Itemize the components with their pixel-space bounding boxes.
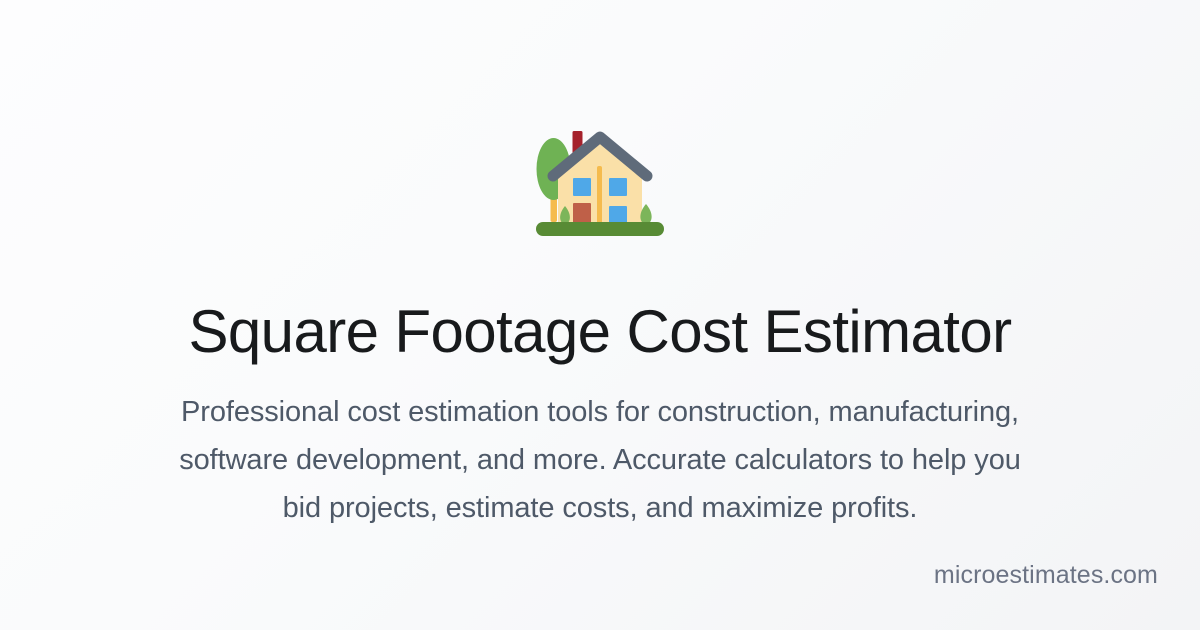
og-card: Square Footage Cost Estimator Profession… (0, 0, 1200, 630)
page-title: Square Footage Cost Estimator (0, 300, 1200, 364)
subtitle-line-3: bid projects, estimate costs, and maximi… (85, 484, 1115, 532)
site-domain: microestimates.com (934, 563, 1158, 588)
page-subtitle: Professional cost estimation tools for c… (85, 388, 1115, 532)
subtitle-line-2: software development, and more. Accurate… (85, 436, 1115, 484)
grass-base-shape (536, 222, 664, 236)
center-stripe-shape (597, 166, 602, 226)
subtitle-line-1: Professional cost estimation tools for c… (85, 388, 1115, 436)
window-top-right-shape (609, 178, 627, 196)
house-with-garden-icon (525, 118, 675, 248)
bush-right-shape (640, 204, 651, 225)
window-top-left-shape (573, 178, 591, 196)
house-with-garden-svg (525, 118, 675, 248)
window-bottom-right-shape (609, 206, 627, 224)
